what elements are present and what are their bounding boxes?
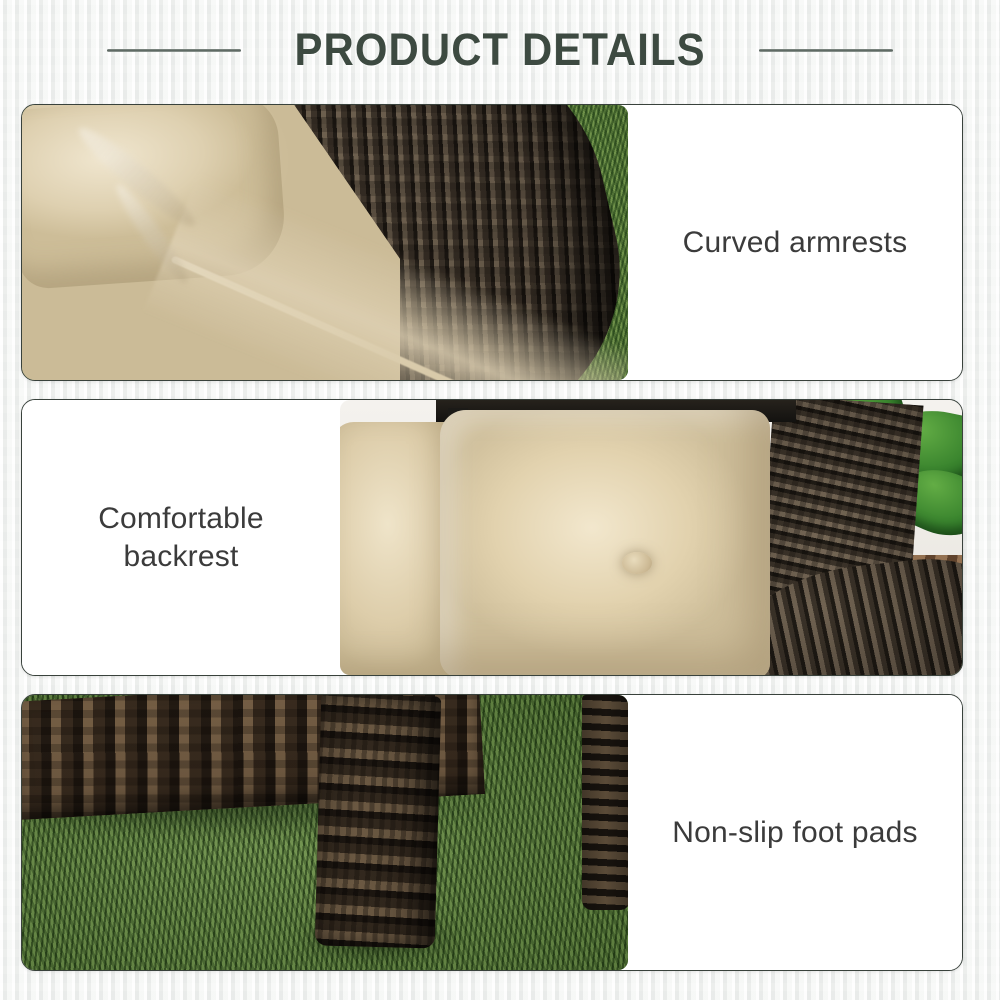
caption-curved-armrests: Curved armrests (683, 224, 908, 262)
tufted-back-cushion (440, 410, 770, 675)
product-details-infographic: PRODUCT DETAILS Curved armrests Comforta… (0, 0, 1000, 1000)
page-title: PRODUCT DETAILS (294, 24, 705, 76)
caption-comfortable-backrest: Comfortable backrest (98, 500, 264, 576)
photo-comfortable-backrest (340, 400, 962, 675)
caption-area-comfortable-backrest: Comfortable backrest (22, 400, 340, 675)
caption-non-slip-foot-pads: Non-slip foot pads (672, 814, 917, 852)
title-decoration-right-icon (759, 49, 893, 52)
caption-line-2: backrest (124, 540, 239, 573)
rattan-leg-with-foot-pad (315, 695, 442, 949)
side-back-cushion (340, 422, 456, 675)
photo-non-slip-foot-pads (22, 695, 628, 970)
caption-line-1: Comfortable (98, 502, 264, 535)
photo-curved-armrests (22, 105, 628, 380)
page-header: PRODUCT DETAILS (0, 0, 1000, 100)
rattan-leg-rear (582, 695, 628, 910)
detail-panel-non-slip-foot-pads: Non-slip foot pads (21, 694, 963, 971)
title-decoration-left-icon (107, 49, 241, 52)
detail-panel-curved-armrests: Curved armrests (21, 104, 963, 381)
detail-panel-comfortable-backrest: Comfortable backrest (21, 399, 963, 676)
cushion-button (622, 552, 652, 574)
caption-area-curved-armrests: Curved armrests (628, 105, 962, 380)
caption-area-non-slip-foot-pads: Non-slip foot pads (628, 695, 962, 970)
